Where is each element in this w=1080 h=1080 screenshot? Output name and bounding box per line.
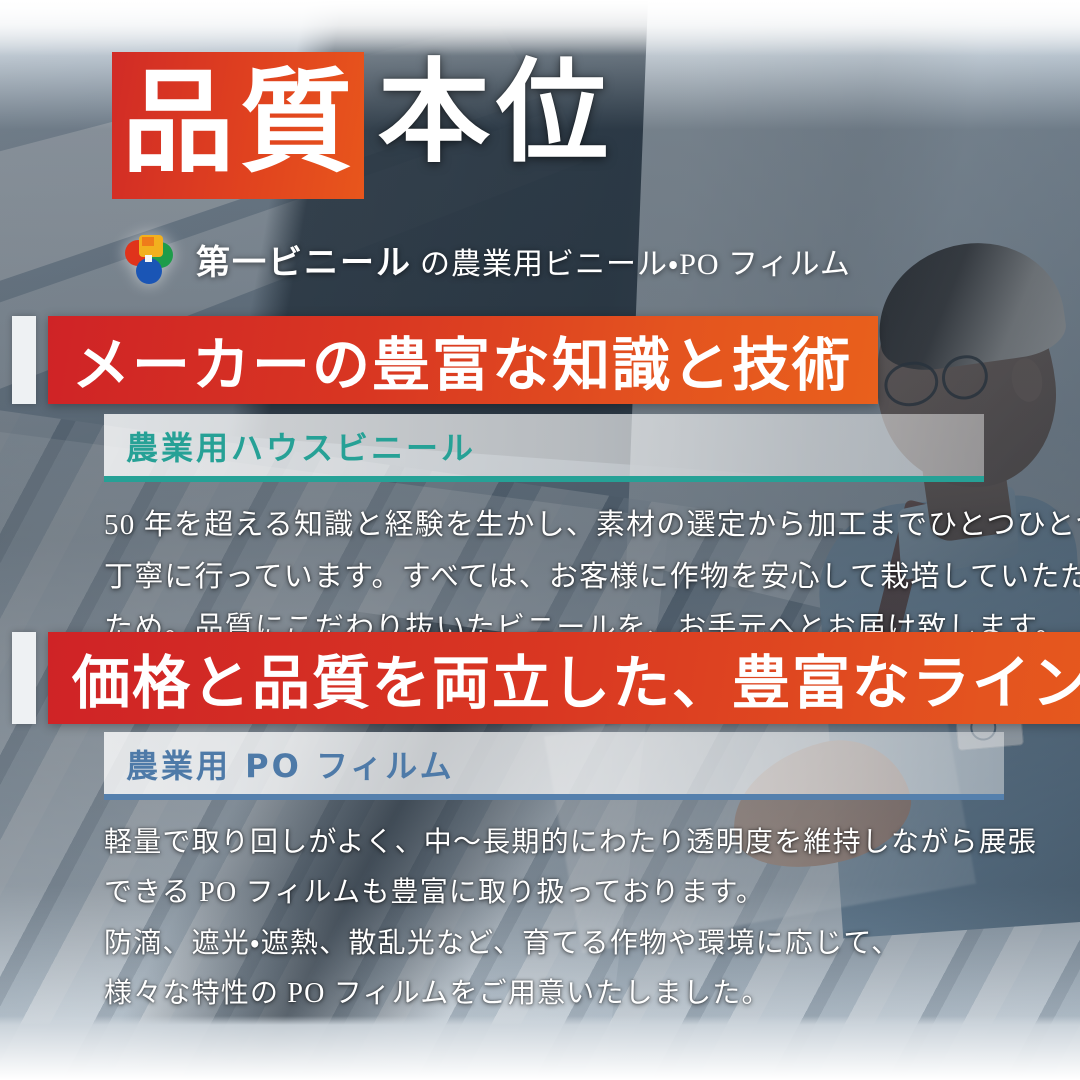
subsection-band-1: 農業用ハウスビニール [104, 414, 984, 482]
ribbon-gap-1 [36, 316, 48, 404]
ribbon-bar-2: 価格と品質を両立した、豊富なラインナップ [48, 632, 1080, 724]
body-line: 防滴、遮光・遮熱、散乱光など、育てる作物や環境に応じて、 [104, 919, 1004, 969]
ribbon-tick-mark-1 [12, 316, 36, 404]
brand-text: 第一ビニール の農業用ビニール・PO フィルム [196, 235, 851, 284]
section-hausu-vinyl: 農業用ハウスビニール 50 年を超える知識と経験を生かし、素材の選定から加工まで… [104, 414, 984, 655]
body-line: 様々な特性の PO フィルムをご用意いたしました。 [104, 969, 1004, 1019]
body-line: 軽量で取り回しがよく、中〜長期的にわたり透明度を維持しながら展張 [104, 818, 1004, 868]
ribbon-bar-1: メーカーの豊富な知識と技術 [48, 316, 878, 404]
ribbon-label-1: メーカーの豊富な知識と技術 [72, 318, 852, 402]
brand-tagline: の農業用ビニール・PO フィルム [412, 239, 851, 283]
ribbon-label-2: 価格と品質を両立した、豊富なラインナップ [72, 636, 1080, 720]
body-line: 50 年を超える知識と経験を生かし、素材の選定から加工までひとつひとつ [104, 500, 984, 552]
brand-row: 第一ビニール の農業用ビニール・PO フィルム [118, 228, 851, 290]
section-ribbon-2: 価格と品質を両立した、豊富なラインナップ [12, 632, 1080, 724]
ribbon-tick-mark-2 [12, 632, 36, 724]
banner-content: 品質 本位 第一ビニール の農業用ビニール・PO フィルム [0, 0, 1080, 1080]
brand-name: 第一ビニール [196, 235, 412, 284]
section-body-2: 軽量で取り回しがよく、中〜長期的にわたり透明度を維持しながら展張 できる PO … [104, 818, 1004, 1020]
ribbon-gap-2 [36, 632, 48, 724]
title-boxed-text: 品質 [122, 62, 358, 187]
subsection-band-2: 農業用 PO フィルム [104, 732, 1004, 800]
body-line: 丁寧に行っています。すべては、お客様に作物を安心して栽培していただく [104, 552, 984, 604]
body-line: できる PO フィルムも豊富に取り扱っております。 [104, 868, 1004, 918]
section-ribbon-1: メーカーの豊富な知識と技術 [12, 316, 878, 404]
daiichi-vinyl-logo-icon [118, 228, 180, 290]
section-po-film: 農業用 PO フィルム 軽量で取り回しがよく、中〜長期的にわたり透明度を維持しな… [104, 732, 1004, 1020]
subsection-title-1: 農業用ハウスビニール [126, 423, 476, 469]
page-title: 品質 本位 [112, 52, 614, 199]
title-plain-text: 本位 [364, 52, 614, 177]
title-highlight-box: 品質 [112, 52, 364, 199]
promo-banner: 品質 本位 第一ビニール の農業用ビニール・PO フィルム [0, 0, 1080, 1080]
subsection-title-2: 農業用 PO フィルム [126, 741, 455, 787]
